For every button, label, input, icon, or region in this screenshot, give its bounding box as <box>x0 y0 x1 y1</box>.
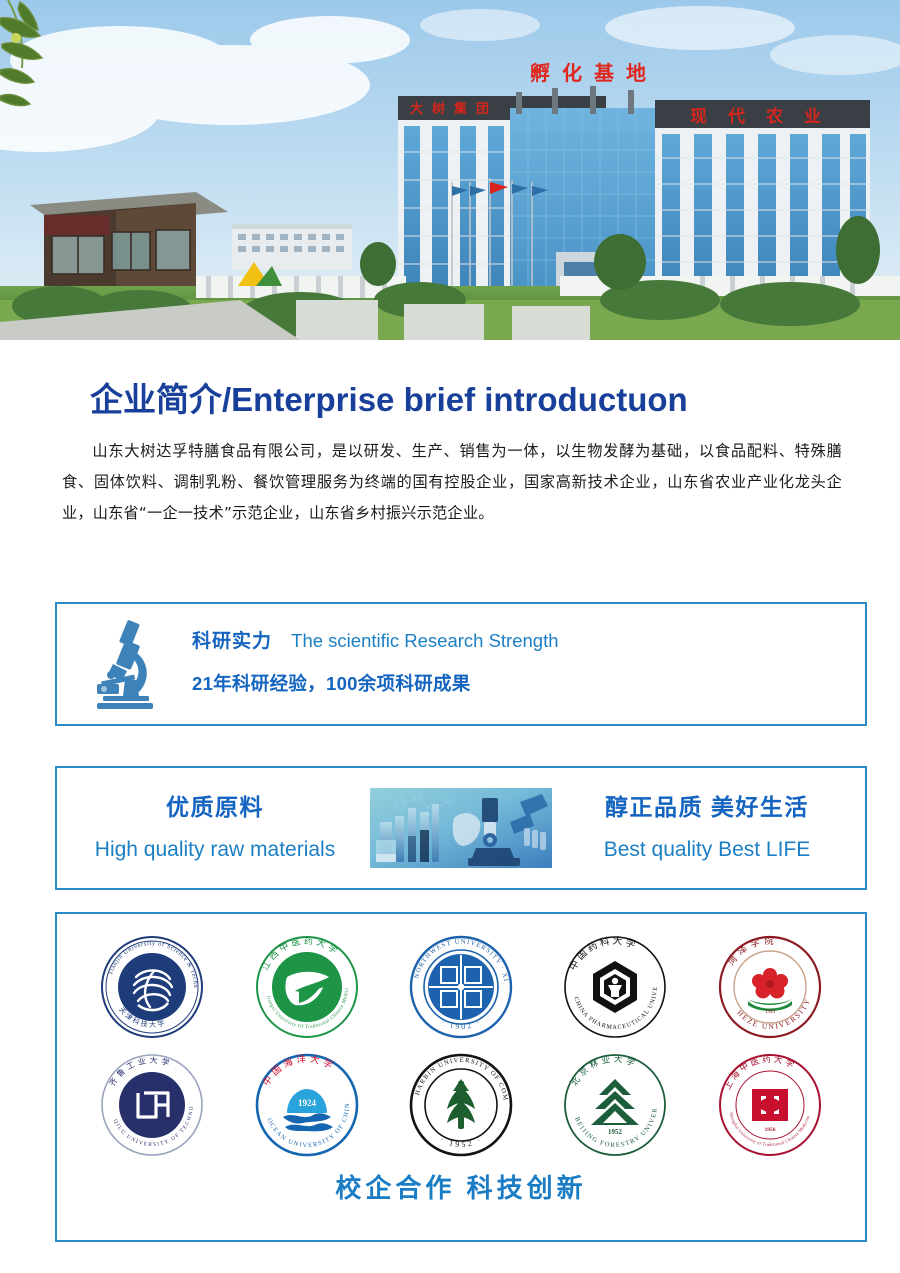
quality-card: 优质原料 High quality raw materials <box>55 766 867 890</box>
heze-university-icon: 1949 菏泽学院 HEZE UNIVERSITY <box>716 933 824 1041</box>
shanghai-tcm-icon: 1956 上海中医药大学 Shanghai University of Trad… <box>716 1051 824 1159</box>
tianjin-ust-icon: Tianjin University of Science & Technolo… <box>98 933 206 1041</box>
svg-text:1952: 1952 <box>608 1128 623 1136</box>
quality-left-en: High quality raw materials <box>67 839 363 860</box>
beijing-forestry-icon: 1952 北京林业大学 BEIJING FORESTRY UNIVERSITY <box>561 1051 669 1159</box>
svg-text:集: 集 <box>453 101 468 117</box>
laboratory-photo <box>370 788 552 868</box>
logo-jiangxi-tcm: 江西中医药大学 Jiangxi University Of Traditiona… <box>241 928 373 1046</box>
university-partners-card: Tianjin University of Science & Technolo… <box>55 912 867 1242</box>
quality-left-block: 优质原料 High quality raw materials <box>67 796 363 860</box>
logo-tianjin-ust: Tianjin University of Science & Technolo… <box>86 928 218 1046</box>
quality-right-block: 醇正品质 美好生活 Best quality Best LIFE <box>559 796 855 860</box>
svg-text:中国海洋大学: 中国海洋大学 <box>260 1053 338 1088</box>
research-heading-en: The scientific Research Strength <box>291 630 558 651</box>
logo-row-1: Tianjin University of Science & Technolo… <box>75 928 847 1046</box>
section-title-wrap: 企业简介/Enterprise brief introductuon <box>0 340 900 418</box>
quality-right-cn: 醇正品质 美好生活 <box>559 796 855 819</box>
svg-text:孵: 孵 <box>530 61 550 85</box>
quality-right-en: Best quality Best LIFE <box>559 839 855 860</box>
page-title: 企业简介/Enterprise brief introductuon <box>90 382 900 418</box>
research-text-block: 科研实力 The scientific Research Strength 21… <box>192 632 559 696</box>
svg-text:1956: 1956 <box>764 1127 775 1133</box>
svg-text:现: 现 <box>690 107 707 127</box>
research-heading-line: 科研实力 The scientific Research Strength <box>192 632 559 651</box>
harbin-commerce-icon: HARBIN UNIVERSITY OF COMMERCE · 1952 · <box>407 1051 515 1159</box>
hero-photo: 大树 集团 <box>0 0 900 340</box>
hero-illustration: 大树 集团 <box>0 0 900 340</box>
research-heading-cn: 科研实力 <box>192 631 272 652</box>
logo-shanghai-tcm: 1956 上海中医药大学 Shanghai University of Trad… <box>704 1046 836 1164</box>
laboratory-illustration <box>370 788 552 868</box>
quality-left-cn: 优质原料 <box>67 796 363 819</box>
svg-text:代: 代 <box>727 106 745 127</box>
logo-heze-university: 1949 菏泽学院 HEZE UNIVERSITY <box>704 928 836 1046</box>
qilu-technology-icon: 齐鲁工业大学 QILU UNIVERSITY OF TECHNOLOGY <box>98 1051 206 1159</box>
research-subline: 21年科研经验，100余项科研成果 <box>192 670 559 696</box>
svg-text:大: 大 <box>410 101 423 117</box>
logo-china-pharmaceutical: 中国药科大学 CHINA PHARMACEUTICAL UNIVERSITY <box>549 928 681 1046</box>
china-pharmaceutical-icon: 中国药科大学 CHINA PHARMACEUTICAL UNIVERSITY <box>561 933 669 1041</box>
ocean-university-icon: 1924 中国海洋大学 OCEAN UNIVERSITY OF CHINA <box>253 1051 361 1159</box>
svg-text:1949: 1949 <box>765 1010 776 1015</box>
logo-beijing-forestry: 1952 北京林业大学 BEIJING FORESTRY UNIVERSITY <box>549 1046 681 1164</box>
research-strength-card: 科研实力 The scientific Research Strength 21… <box>55 602 867 726</box>
jiangxi-tcm-icon: 江西中医药大学 Jiangxi University Of Traditiona… <box>253 933 361 1041</box>
logo-ocean-university: 1924 中国海洋大学 OCEAN UNIVERSITY OF CHINA <box>241 1046 373 1164</box>
logo-harbin-commerce: HARBIN UNIVERSITY OF COMMERCE · 1952 · <box>395 1046 527 1164</box>
northwest-university-icon: NORTHWEST UNIVERSITY · XI AN · CHINA · 1… <box>407 933 515 1041</box>
logo-row-2: 齐鲁工业大学 QILU UNIVERSITY OF TECHNOLOGY 192… <box>75 1046 847 1164</box>
company-intro-paragraph: 山东大树达孚特膳食品有限公司，是以研发、生产、销售为一体，以生物发酵为基础，以食… <box>62 436 842 529</box>
microscope-icon <box>87 618 157 710</box>
svg-text:地: 地 <box>626 61 646 85</box>
svg-text:农: 农 <box>765 106 783 127</box>
svg-text:北京林业大学: 北京林业大学 <box>569 1053 640 1088</box>
svg-text:中国药科大学: 中国药科大学 <box>567 935 640 973</box>
svg-text:团: 团 <box>476 102 489 117</box>
cooperation-caption: 校企合作 科技创新 <box>75 1168 847 1205</box>
svg-text:1924: 1924 <box>298 1098 317 1108</box>
svg-text:树: 树 <box>432 101 445 117</box>
logo-qilu-technology: 齐鲁工业大学 QILU UNIVERSITY OF TECHNOLOGY <box>86 1046 218 1164</box>
logo-northwest-university: NORTHWEST UNIVERSITY · XI AN · CHINA · 1… <box>395 928 527 1046</box>
svg-text:化: 化 <box>562 61 582 85</box>
svg-text:基: 基 <box>594 61 615 85</box>
svg-text:· 1952 ·: · 1952 · <box>439 1134 485 1149</box>
svg-text:业: 业 <box>804 107 821 127</box>
